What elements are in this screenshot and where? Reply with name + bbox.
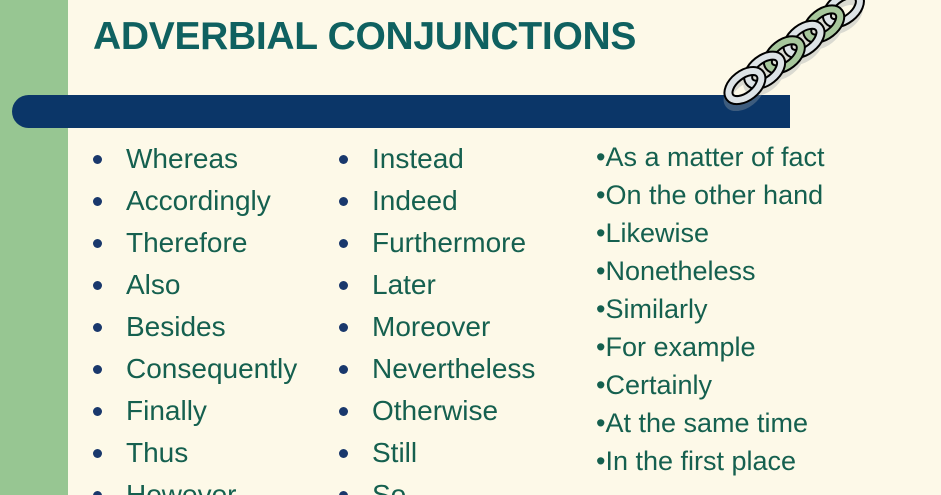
list-item[interactable]: Consequently	[88, 348, 328, 390]
bullet-disc-icon	[93, 323, 102, 332]
conjunction-column-one: Whereas Accordingly Therefore Also Besid…	[88, 138, 328, 495]
list-item-label: Similarly	[605, 294, 707, 324]
list-item[interactable]: Accordingly	[88, 180, 328, 222]
list-item-label: Likewise	[605, 218, 709, 248]
conjunction-list-one: Whereas Accordingly Therefore Also Besid…	[88, 138, 328, 495]
bullet-disc-icon	[93, 281, 102, 290]
list-item-label: For example	[605, 332, 755, 362]
bullet-disc-icon	[339, 281, 348, 290]
list-item[interactable]: •As a matter of fact	[596, 138, 936, 176]
list-item-label: Moreover	[372, 311, 490, 342]
list-item[interactable]: Also	[88, 264, 328, 306]
list-item-label: Accordingly	[126, 185, 271, 216]
list-item-label: Still	[372, 437, 417, 468]
bullet-disc-icon	[93, 407, 102, 416]
list-item[interactable]: •Certainly	[596, 366, 936, 404]
list-item-label: So	[372, 479, 406, 495]
list-item[interactable]: Indeed	[334, 180, 584, 222]
bullet-disc-icon	[339, 407, 348, 416]
list-item[interactable]: •In the first place	[596, 442, 936, 480]
list-item[interactable]: •Nonetheless	[596, 252, 936, 290]
title-accent-bar	[12, 95, 790, 128]
list-item[interactable]: However	[88, 474, 328, 495]
bullet-disc-icon	[339, 155, 348, 164]
list-item[interactable]: Whereas	[88, 138, 328, 180]
list-item[interactable]: •On the other hand	[596, 176, 936, 214]
bullet-disc-icon	[93, 239, 102, 248]
list-item[interactable]: •Likewise	[596, 214, 936, 252]
list-item-label: Also	[126, 269, 180, 300]
bullet-disc-icon	[339, 323, 348, 332]
conjunction-column-two: Instead Indeed Furthermore Later Moreove…	[334, 138, 584, 495]
list-item-label: Indeed	[372, 185, 458, 216]
list-item[interactable]: Finally	[88, 390, 328, 432]
list-item-label: Besides	[126, 311, 226, 342]
bullet-disc-icon	[339, 365, 348, 374]
list-item[interactable]: Moreover	[334, 306, 584, 348]
list-item-label: Finally	[126, 395, 207, 426]
bullet-disc-icon	[339, 197, 348, 206]
list-item[interactable]: So	[334, 474, 584, 495]
list-item[interactable]: •Similarly	[596, 290, 936, 328]
conjunction-list-two: Instead Indeed Furthermore Later Moreove…	[334, 138, 584, 495]
list-item[interactable]: Thus	[88, 432, 328, 474]
list-item-label: Otherwise	[372, 395, 498, 426]
list-item[interactable]: Otherwise	[334, 390, 584, 432]
slide-canvas: ADVERBIAL CONJUNCTIONS	[0, 0, 941, 495]
list-item[interactable]: •For example	[596, 328, 936, 366]
list-item[interactable]: Still	[334, 432, 584, 474]
bullet-disc-icon	[93, 155, 102, 164]
list-item[interactable]: •At the same time	[596, 404, 936, 442]
list-item-label: Instead	[372, 143, 464, 174]
bullet-disc-icon	[339, 239, 348, 248]
bullet-disc-icon	[339, 491, 348, 495]
list-item-label: Whereas	[126, 143, 238, 174]
list-item-label: However	[126, 479, 236, 495]
list-item-label: On the other hand	[605, 180, 823, 210]
list-item[interactable]: Therefore	[88, 222, 328, 264]
list-item-label: Consequently	[126, 353, 297, 384]
bullet-disc-icon	[339, 449, 348, 458]
bullet-disc-icon	[93, 365, 102, 374]
list-item[interactable]: Later	[334, 264, 584, 306]
conjunction-list-three: •As a matter of fact •On the other hand …	[596, 138, 936, 480]
list-item-label: Furthermore	[372, 227, 526, 258]
bullet-disc-icon	[93, 491, 102, 495]
page-title: ADVERBIAL CONJUNCTIONS	[93, 11, 733, 63]
list-item-label: Certainly	[605, 370, 712, 400]
list-item-label: At the same time	[605, 408, 808, 438]
list-item-label: Later	[372, 269, 436, 300]
bullet-disc-icon	[93, 449, 102, 458]
bullet-disc-icon	[93, 197, 102, 206]
list-item-label: As a matter of fact	[605, 142, 824, 172]
list-item[interactable]: Besides	[88, 306, 328, 348]
conjunction-column-three: •As a matter of fact •On the other hand …	[596, 138, 936, 480]
list-item[interactable]: Furthermore	[334, 222, 584, 264]
list-item-label: Nevertheless	[372, 353, 535, 384]
list-item-label: Thus	[126, 437, 188, 468]
list-item[interactable]: Instead	[334, 138, 584, 180]
list-item-label: In the first place	[605, 446, 796, 476]
list-item[interactable]: Nevertheless	[334, 348, 584, 390]
conjunction-columns: Whereas Accordingly Therefore Also Besid…	[0, 138, 941, 495]
list-item-label: Nonetheless	[605, 256, 755, 286]
list-item-label: Therefore	[126, 227, 247, 258]
